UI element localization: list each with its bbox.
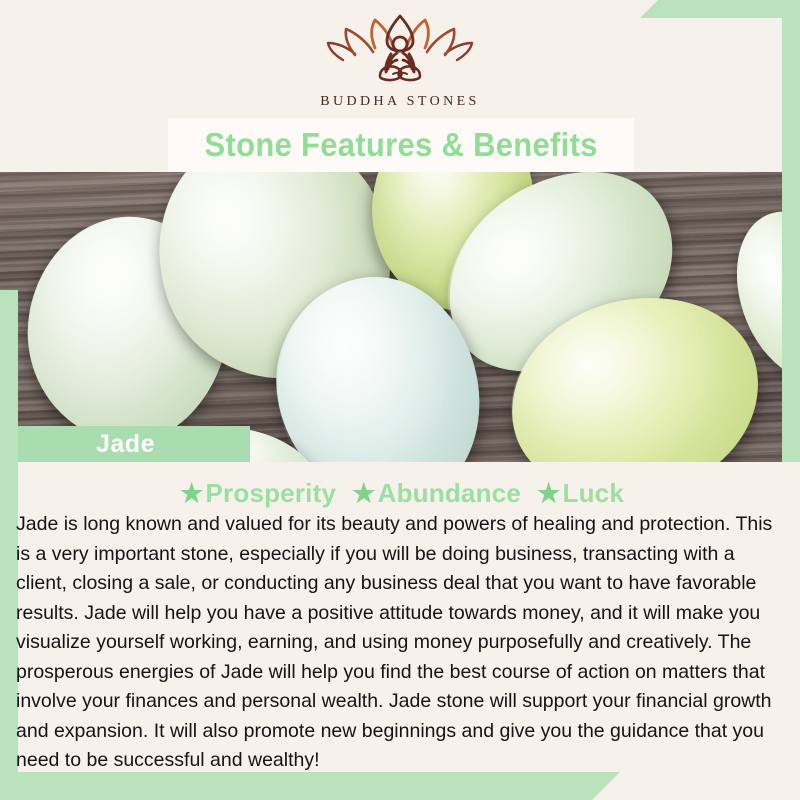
- brand-name: BUDDHA STONES: [0, 94, 800, 110]
- lotus-meditation-icon: [325, 14, 475, 90]
- star-icon: ★: [352, 478, 376, 508]
- benefit-prosperity: Prosperity: [206, 478, 337, 508]
- page-title: Stone Features & Benefits: [204, 126, 597, 164]
- stone-name-label: Jade: [18, 426, 250, 462]
- frame-accent-top-right: [640, 0, 800, 18]
- star-icon: ★: [537, 478, 561, 508]
- benefit-abundance: Abundance: [378, 478, 521, 508]
- frame-accent-right: [782, 0, 800, 462]
- stone-name-text: Jade: [96, 430, 155, 459]
- benefits-row: ★Prosperity★Abundance★Luck: [0, 478, 800, 509]
- frame-accent-bottom: [0, 772, 620, 800]
- brand-logo: BUDDHA STONES: [0, 14, 800, 110]
- poster-root: BUDDHA STONES Stone Features & Benefits …: [0, 0, 800, 800]
- title-banner: Stone Features & Benefits: [168, 118, 634, 172]
- star-icon: ★: [180, 478, 204, 508]
- description-text: Jade is long known and valued for its be…: [16, 510, 788, 776]
- stone-photo: [0, 172, 800, 462]
- benefit-luck: Luck: [563, 478, 624, 508]
